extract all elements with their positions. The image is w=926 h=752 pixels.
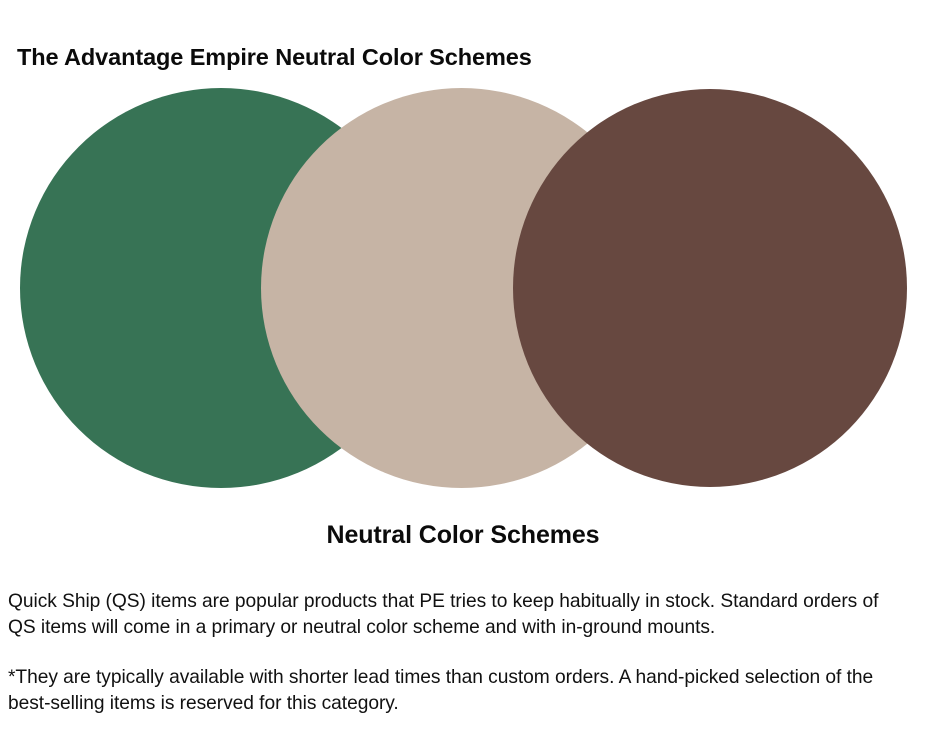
brown-swatch-circle (513, 89, 907, 487)
neutral-color-schemes-page: The Advantage Empire Neutral Color Schem… (0, 0, 926, 752)
body-paragraph-2: *They are typically available with short… (8, 665, 902, 716)
body-copy: Quick Ship (QS) items are popular produc… (8, 589, 902, 716)
swatch-caption: Neutral Color Schemes (0, 521, 926, 550)
color-swatch-group (0, 0, 926, 500)
body-paragraph-1: Quick Ship (QS) items are popular produc… (8, 589, 902, 640)
